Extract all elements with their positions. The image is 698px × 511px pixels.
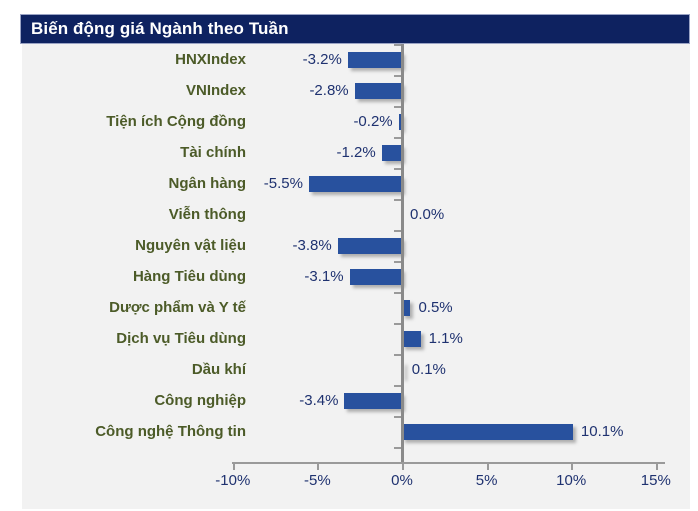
zero-axis-line [401,44,404,462]
value-label: -1.2% [337,137,376,168]
bar [344,393,402,409]
value-label: -2.8% [309,75,348,106]
value-label: -3.4% [299,385,338,416]
x-axis-tick [402,462,404,470]
value-label: -3.8% [293,230,332,261]
bar [338,238,402,254]
category-label: Tiện ích Cộng đồng [22,106,250,137]
x-axis-tick-label: -5% [287,472,347,489]
bar-row: Dầu khí0.1% [22,354,690,385]
bar-row: Nguyên vật liệu-3.8% [22,230,690,261]
x-axis-tick [487,462,489,470]
category-tick [394,199,401,201]
category-tick [394,385,401,387]
value-label: -3.2% [303,44,342,75]
bar-row: Ngân hàng-5.5% [22,168,690,199]
category-tick [394,416,401,418]
value-label: 0.5% [418,292,452,323]
value-label: 0.1% [412,354,446,385]
value-label: -0.2% [353,106,392,137]
bar [402,424,573,440]
bar-row: HNXIndex-3.2% [22,44,690,75]
bar-row: Tài chính-1.2% [22,137,690,168]
category-label: Viễn thông [22,199,250,230]
bar-row: VNIndex-2.8% [22,75,690,106]
category-label: VNIndex [22,75,250,106]
x-axis-tick-label: 10% [541,472,601,489]
category-tick [394,44,401,46]
bar-row: Tiện ích Cộng đồng-0.2% [22,106,690,137]
x-axis-tick [571,462,573,470]
value-label: 0.0% [410,199,444,230]
bar-row: Hàng Tiêu dùng-3.1% [22,261,690,292]
chart-title-bar: Biến động giá Ngành theo Tuần [20,14,690,44]
bar [355,83,402,99]
bar [350,269,402,285]
bar [402,331,421,347]
category-tick [394,137,401,139]
bar-row: Viễn thông0.0% [22,199,690,230]
chart-title: Biến động giá Ngành theo Tuần [21,19,289,39]
category-tick [394,323,401,325]
category-tick [394,168,401,170]
x-axis-tick-label: 0% [372,472,432,489]
x-axis-tick [233,462,235,470]
value-label: 10.1% [581,416,624,447]
value-label: -5.5% [264,168,303,199]
x-axis-tick [656,462,658,470]
bar-row: Dược phẩm và Y tế0.5% [22,292,690,323]
bar [382,145,402,161]
value-label: -3.1% [304,261,343,292]
x-axis-tick-label: 15% [626,472,686,489]
bar-rows-container: HNXIndex-3.2%VNIndex-2.8%Tiện ích Cộng đ… [22,44,690,462]
category-tick [394,292,401,294]
bar-row: Dịch vụ Tiêu dùng1.1% [22,323,690,354]
category-tick [394,447,401,449]
category-label: Công nghệ Thông tin [22,416,250,447]
category-label: Tài chính [22,137,250,168]
category-label: Dịch vụ Tiêu dùng [22,323,250,354]
category-tick [394,261,401,263]
category-tick [394,106,401,108]
category-label: Nguyên vật liệu [22,230,250,261]
x-axis-tick-label: -10% [203,472,263,489]
category-label: Ngân hàng [22,168,250,199]
category-label: Hàng Tiêu dùng [22,261,250,292]
bar [309,176,402,192]
category-tick [394,354,401,356]
cropped-text-above-card: • • • [0,0,698,6]
category-label: HNXIndex [22,44,250,75]
plot-area: HNXIndex-3.2%VNIndex-2.8%Tiện ích Cộng đ… [22,44,690,509]
bar-row: Công nghệ Thông tin10.1% [22,416,690,447]
x-axis-tick [317,462,319,470]
value-label: 1.1% [429,323,463,354]
category-tick [394,230,401,232]
chart-root: • • • Biến động giá Ngành theo Tuần HNXI… [0,0,698,511]
category-tick [394,75,401,77]
category-label: Dược phẩm và Y tế [22,292,250,323]
bar [348,52,402,68]
category-label: Dầu khí [22,354,250,385]
x-axis-line [232,462,665,464]
x-axis-tick-label: 5% [457,472,517,489]
category-label: Công nghiệp [22,385,250,416]
bar-row: Công nghiệp-3.4% [22,385,690,416]
